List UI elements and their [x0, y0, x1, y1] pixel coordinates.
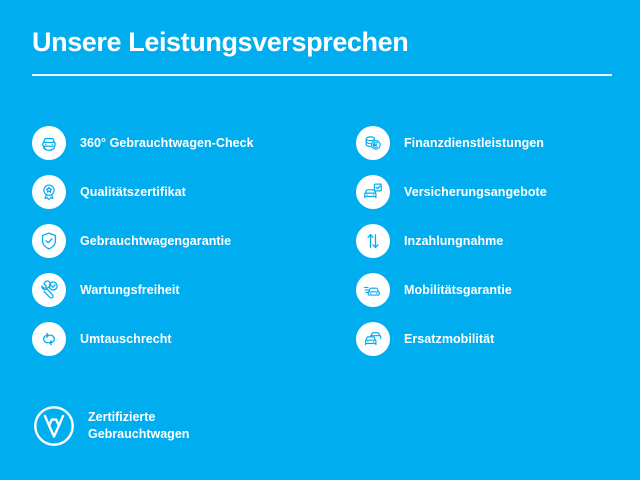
feature-item-insurance-offers[interactable]: Versicherungsangebote	[356, 167, 640, 216]
feature-item-quality-certificate[interactable]: Qualitätszertifikat	[32, 167, 328, 216]
brand-lockup: Zertifizierte Gebrauchtwagen	[32, 404, 189, 448]
feature-label: Finanzdienstleistungen	[404, 136, 544, 150]
feature-label: Ersatzmobilität	[404, 332, 494, 346]
award-rosette-icon	[32, 175, 66, 209]
feature-item-trade-in[interactable]: Inzahlungnahme	[356, 216, 640, 265]
promise-panel: Unsere Leistungsversprechen 360° Gebrauc	[0, 0, 640, 480]
feature-item-360-check[interactable]: 360° Gebrauchtwagen-Check	[32, 118, 328, 167]
brand-line-1: Zertifizierte	[88, 409, 189, 426]
feature-item-mobility-guarantee[interactable]: Mobilitätsgarantie	[356, 265, 640, 314]
feature-item-replacement-mobility[interactable]: Ersatzmobilität	[356, 314, 640, 363]
features-grid: 360° Gebrauchtwagen-Check Qualitätszerti…	[0, 118, 640, 363]
up-down-arrows-icon	[356, 224, 390, 258]
feature-label: Umtauschrecht	[80, 332, 172, 346]
feature-label: Wartungsfreiheit	[80, 283, 180, 297]
wrench-check-icon	[32, 273, 66, 307]
feature-label: Mobilitätsgarantie	[404, 283, 512, 297]
feature-item-exchange-right[interactable]: Umtauschrecht	[32, 314, 328, 363]
features-column-left: 360° Gebrauchtwagen-Check Qualitätszerti…	[0, 118, 328, 363]
header-divider	[32, 74, 612, 76]
feature-label: Versicherungsangebote	[404, 185, 547, 199]
car-360-check-icon	[32, 126, 66, 160]
feature-label: Gebrauchtwagengarantie	[80, 234, 231, 248]
brand-line-2: Gebrauchtwagen	[88, 426, 189, 443]
tow-truck-icon	[356, 273, 390, 307]
brand-text: Zertifizierte Gebrauchtwagen	[88, 409, 189, 443]
feature-label: Inzahlungnahme	[404, 234, 503, 248]
shield-check-icon	[32, 224, 66, 258]
volkswagen-logo-icon	[32, 404, 76, 448]
car-document-check-icon	[356, 175, 390, 209]
feature-label: 360° Gebrauchtwagen-Check	[80, 136, 254, 150]
feature-label: Qualitätszertifikat	[80, 185, 186, 199]
coins-euro-icon	[356, 126, 390, 160]
feature-item-financial-services[interactable]: Finanzdienstleistungen	[356, 118, 640, 167]
feature-item-maintenance-free[interactable]: Wartungsfreiheit	[32, 265, 328, 314]
two-cars-icon	[356, 322, 390, 356]
exchange-arrows-icon	[32, 322, 66, 356]
header: Unsere Leistungsversprechen	[32, 28, 612, 76]
feature-item-warranty[interactable]: Gebrauchtwagengarantie	[32, 216, 328, 265]
features-column-right: Finanzdienstleistungen Versicherungsange…	[328, 118, 640, 363]
page-title: Unsere Leistungsversprechen	[32, 28, 612, 58]
